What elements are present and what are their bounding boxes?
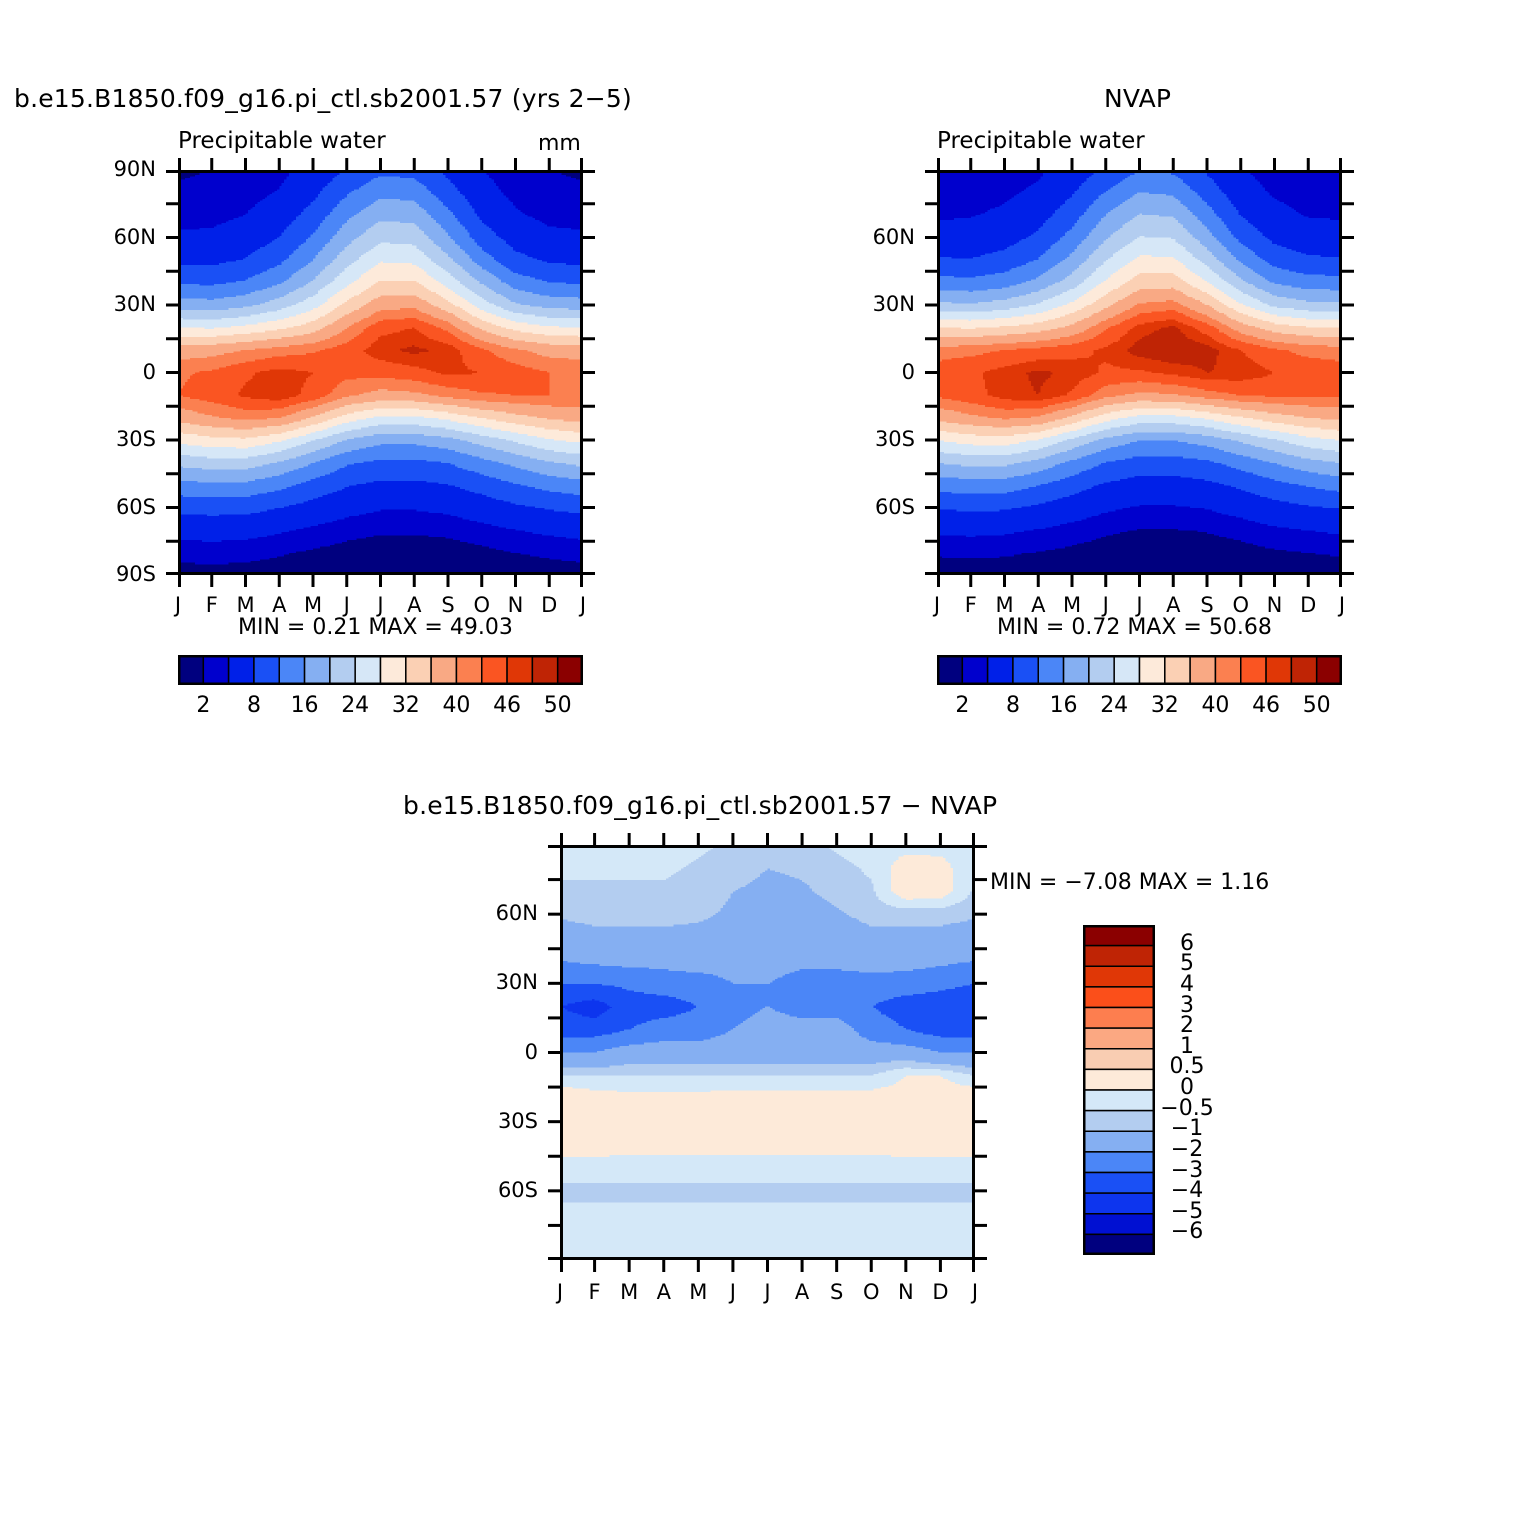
model-x-tick-3: A <box>272 593 286 617</box>
obs-cbar-label-46: 46 <box>1252 693 1280 718</box>
model-x-tick-5: J <box>344 593 350 617</box>
model-x-tick-0: J <box>175 593 181 617</box>
obs-y-tick-30N: 30N <box>873 292 915 316</box>
obs-x-tick-7: A <box>1166 593 1180 617</box>
obs-minmax: MIN = 0.72 MAX = 50.68 <box>997 615 1272 640</box>
obs-cbar-label-2: 2 <box>955 693 969 718</box>
model-plot-area[interactable] <box>178 170 583 575</box>
model-x-tick-9: O <box>473 593 490 617</box>
model-y-tick-0: 0 <box>143 360 156 384</box>
diff-x-tick-1: F <box>589 1280 601 1304</box>
obs-x-tick-1: F <box>965 593 977 617</box>
obs-y-tick-0: 0 <box>902 360 915 384</box>
obs-cbar-label-16: 16 <box>1050 693 1078 718</box>
diff-colorbar[interactable] <box>1083 925 1155 1255</box>
model-cbar-label-2: 2 <box>196 693 210 718</box>
obs-y-tick-60N: 60N <box>873 225 915 249</box>
obs-x-tick-2: M <box>995 593 1013 617</box>
diff-x-tick-6: J <box>764 1280 770 1304</box>
diff-y-tick-0: 0 <box>525 1040 538 1064</box>
obs-x-tick-12: J <box>1339 593 1345 617</box>
model-y-tick-60N: 60N <box>114 225 156 249</box>
model-cbar-label-8: 8 <box>247 693 261 718</box>
diff-minmax: MIN = −7.08 MAX = 1.16 <box>990 870 1269 895</box>
obs-y-tick-30S: 30S <box>875 427 915 451</box>
obs-x-tick-8: S <box>1200 593 1213 617</box>
model-y-tick-90N: 90N <box>114 157 156 181</box>
model-x-tick-12: J <box>580 593 586 617</box>
model-x-tick-10: N <box>508 593 524 617</box>
model-x-tick-2: M <box>236 593 254 617</box>
diff-cbar-label-14: −6 <box>1171 1219 1203 1244</box>
obs-y-tick-60S: 60S <box>875 495 915 519</box>
diff-x-tick-7: A <box>795 1280 809 1304</box>
diff-y-tick-60N: 60N <box>496 901 538 925</box>
model-y-tick-60S: 60S <box>116 495 156 519</box>
model-units-label: mm <box>538 131 581 156</box>
diff-x-tick-4: M <box>689 1280 707 1304</box>
model-cbar-label-50: 50 <box>544 693 572 718</box>
diff-y-tick-60S: 60S <box>498 1178 538 1202</box>
diff-x-tick-0: J <box>557 1280 563 1304</box>
model-x-tick-4: M <box>304 593 322 617</box>
obs-x-tick-4: M <box>1063 593 1081 617</box>
model-y-tick-30N: 30N <box>114 292 156 316</box>
obs-plot-area[interactable] <box>937 170 1342 575</box>
model-panel-title: b.e15.B1850.f09_g16.pi_ctl.sb2001.57 (yr… <box>14 84 632 113</box>
obs-x-tick-0: J <box>934 593 940 617</box>
diff-y-tick-30N: 30N <box>496 970 538 994</box>
diff-plot-area[interactable] <box>560 845 975 1260</box>
obs-x-tick-10: N <box>1267 593 1283 617</box>
obs-cbar-label-24: 24 <box>1100 693 1128 718</box>
obs-cbar-label-40: 40 <box>1201 693 1229 718</box>
model-cbar-label-40: 40 <box>442 693 470 718</box>
model-colorbar[interactable] <box>178 655 583 685</box>
obs-panel-title: NVAP <box>1104 84 1171 113</box>
model-x-tick-7: A <box>407 593 421 617</box>
diff-x-tick-5: J <box>730 1280 736 1304</box>
obs-x-tick-6: J <box>1136 593 1142 617</box>
diff-y-tick-30S: 30S <box>498 1109 538 1133</box>
diff-x-tick-9: O <box>863 1280 880 1304</box>
diff-x-tick-2: M <box>620 1280 638 1304</box>
model-cbar-label-24: 24 <box>341 693 369 718</box>
model-x-tick-11: D <box>541 593 557 617</box>
model-panel-subtitle: Precipitable water <box>178 128 386 154</box>
model-x-tick-1: F <box>206 593 218 617</box>
model-minmax: MIN = 0.21 MAX = 49.03 <box>238 615 513 640</box>
obs-x-tick-11: D <box>1300 593 1316 617</box>
model-y-tick-30S: 30S <box>116 427 156 451</box>
model-cbar-label-46: 46 <box>493 693 521 718</box>
diff-x-tick-3: A <box>657 1280 671 1304</box>
obs-panel-subtitle: Precipitable water <box>937 128 1145 154</box>
obs-cbar-label-32: 32 <box>1151 693 1179 718</box>
diff-x-tick-10: N <box>898 1280 914 1304</box>
obs-x-tick-9: O <box>1232 593 1249 617</box>
model-y-tick-90S: 90S <box>116 562 156 586</box>
model-x-tick-8: S <box>441 593 454 617</box>
obs-colorbar[interactable] <box>937 655 1342 685</box>
obs-cbar-label-8: 8 <box>1006 693 1020 718</box>
diff-x-tick-12: J <box>972 1280 978 1304</box>
obs-x-tick-3: A <box>1031 593 1045 617</box>
obs-x-tick-5: J <box>1103 593 1109 617</box>
diff-panel-title: b.e15.B1850.f09_g16.pi_ctl.sb2001.57 − N… <box>403 791 997 820</box>
model-cbar-label-32: 32 <box>392 693 420 718</box>
model-x-tick-6: J <box>377 593 383 617</box>
obs-cbar-label-50: 50 <box>1303 693 1331 718</box>
diff-x-tick-11: D <box>932 1280 948 1304</box>
model-cbar-label-16: 16 <box>291 693 319 718</box>
diff-x-tick-8: S <box>830 1280 843 1304</box>
